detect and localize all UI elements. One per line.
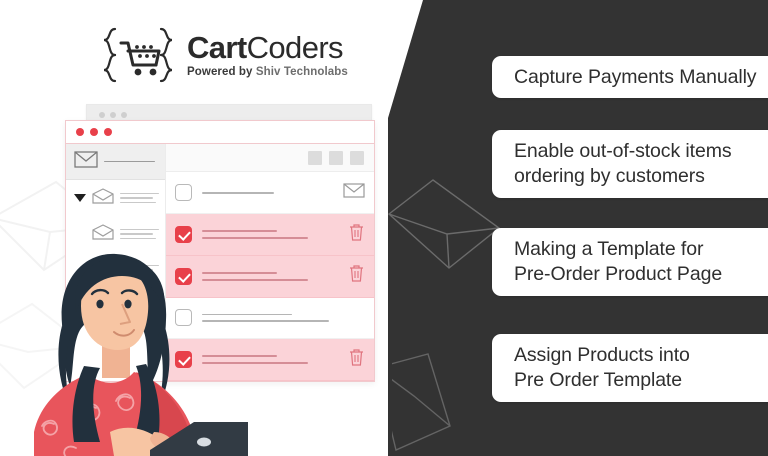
feature-label-line1: Enable out-of-stock items	[514, 140, 732, 162]
chevron-down-icon[interactable]	[74, 194, 86, 202]
feature-label-line2: Pre Order Template	[514, 369, 682, 391]
row-text-placeholder	[202, 192, 333, 194]
tagline-suffix: Shiv Technolabs	[256, 66, 348, 78]
toolbar-button-icon[interactable]	[329, 151, 343, 165]
feature-label-line2: ordering by customers	[514, 165, 705, 187]
feature-label-text: Making a Template for Pre-Order Product …	[514, 237, 722, 287]
feature-label-line1: Assign Products into	[514, 344, 690, 366]
woman-at-laptop-illustration	[18, 246, 248, 456]
row-checkbox[interactable]	[175, 226, 192, 243]
feature-label-line2: Pre-Order Product Page	[514, 263, 722, 285]
window-dot-icon	[121, 112, 127, 118]
trash-icon[interactable]	[348, 348, 365, 372]
feature-label-capture-payments-manually[interactable]: Capture Payments Manually	[492, 56, 768, 98]
envelope-open-icon	[92, 224, 114, 245]
trash-icon[interactable]	[348, 223, 365, 247]
row-checkbox[interactable]	[175, 184, 192, 201]
feature-label-assign-products[interactable]: Assign Products into Pre Order Template	[492, 334, 768, 402]
brand-name-light: Coders	[247, 30, 343, 65]
toolbar-button-icon[interactable]	[308, 151, 322, 165]
envelope-closed-icon	[74, 151, 98, 173]
sidebar-item-inbox[interactable]	[66, 144, 165, 180]
brand-tagline: Powered by Shiv Technolabs	[187, 67, 348, 79]
sidebar-item-folder-expanded[interactable]	[66, 180, 165, 216]
brand-logo: CartCoders Powered by Shiv Technolabs	[97, 26, 348, 84]
window-dot-icon	[99, 112, 105, 118]
feature-label-text: Capture Payments Manually	[514, 65, 756, 90]
list-row[interactable]	[166, 172, 374, 214]
feature-label-text: Assign Products into Pre Order Template	[514, 343, 690, 393]
shopping-cart-in-braces-icon	[97, 26, 179, 84]
toolbar-button-icon[interactable]	[350, 151, 364, 165]
maximize-dot-icon[interactable]	[104, 128, 112, 136]
feature-label-text: Enable out-of-stock items ordering by cu…	[514, 139, 732, 189]
row-text-placeholder	[202, 230, 338, 239]
minimize-dot-icon[interactable]	[90, 128, 98, 136]
tagline-prefix: Powered by	[187, 66, 256, 78]
brand-name: CartCoders	[187, 32, 348, 63]
poster-canvas: CartCoders Powered by Shiv Technolabs	[0, 0, 768, 456]
trash-icon[interactable]	[348, 264, 365, 288]
close-dot-icon[interactable]	[76, 128, 84, 136]
sidebar-text-placeholder	[120, 229, 159, 240]
envelope-closed-icon[interactable]	[343, 183, 365, 203]
sidebar-item-label-placeholder	[104, 161, 155, 163]
window-dot-icon	[110, 112, 116, 118]
list-toolbar	[166, 144, 374, 172]
feature-label-enable-out-of-stock-ordering[interactable]: Enable out-of-stock items ordering by cu…	[492, 130, 768, 198]
feature-label-line1: Making a Template for	[514, 238, 703, 260]
envelope-open-icon	[92, 188, 114, 209]
feature-label-making-a-template[interactable]: Making a Template for Pre-Order Product …	[492, 228, 768, 296]
brand-name-bold: Cart	[187, 30, 247, 65]
window-titlebar	[66, 121, 374, 144]
brand-wordmark: CartCoders Powered by Shiv Technolabs	[187, 32, 348, 79]
sidebar-text-placeholder	[120, 193, 159, 204]
